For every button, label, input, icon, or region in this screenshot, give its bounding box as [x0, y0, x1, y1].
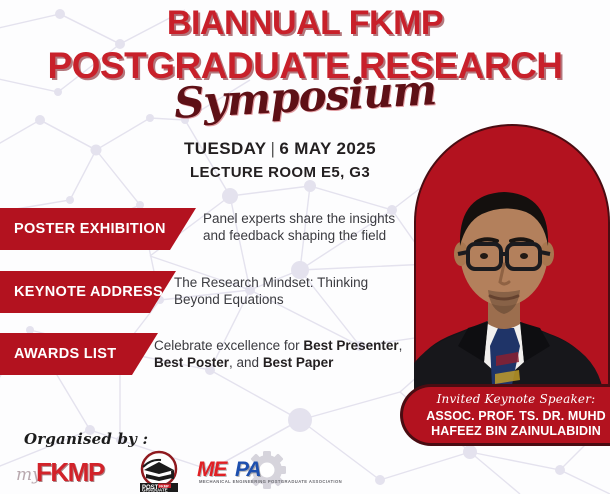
event-date-line: TUESDAY|6 MAY 2025: [130, 138, 430, 161]
desc-awards-bold2: Best Poster: [154, 355, 229, 370]
section-banner-poster-exhibition[interactable]: POSTER EXHIBITION: [0, 208, 196, 250]
organised-by-label: Organised by :: [24, 430, 148, 448]
mepa-logo: ME PA MECHANICAL ENGINEERING POSTGRADUAT…: [191, 450, 294, 494]
date-separator: |: [267, 139, 280, 158]
desc-poster-line2: and feedback shaping the field: [203, 228, 386, 243]
postgraduate-seal-icon: POST FKMP GRADUATE: [131, 450, 187, 494]
mepa-logo-subtitle: MECHANICAL ENGINEERING POSTGRADUATE ASSO…: [199, 479, 342, 484]
title-line-1: BIANNUAL FKMP: [0, 2, 610, 40]
desc-awards-prefix: Celebrate excellence for: [154, 338, 303, 353]
desc-awards-bold3: Best Paper: [263, 355, 334, 370]
section-description-awards-list: Celebrate excellence for Best Presenter,…: [154, 337, 429, 372]
section-description-poster-exhibition: Panel experts share the insights and fee…: [203, 210, 443, 245]
invited-speaker-name-line-1: ASSOC. PROF. TS. DR. MUHD: [425, 409, 607, 424]
event-day: TUESDAY: [184, 139, 266, 158]
event-date: 6 MAY 2025: [279, 139, 376, 158]
symposium-poster: BIANNUAL FKMP POSTGRADUATE RESEARCH Symp…: [0, 0, 610, 494]
desc-keynote-line2: Beyond Equations: [174, 292, 284, 307]
organiser-logo-row: my FKMP POST FKMP GRADUATE: [14, 450, 294, 494]
event-venue: LECTURE ROOM E5, G3: [130, 164, 430, 181]
desc-awards-mid1: ,: [399, 338, 403, 353]
fkmp-logo-text: FKMP: [36, 457, 104, 488]
desc-awards-mid2: , and: [229, 355, 263, 370]
invited-speaker-label: Invited Keynote Speaker:: [425, 393, 607, 406]
postgraduate-logo: POST FKMP GRADUATE: [131, 450, 187, 494]
section-banner-awards-list[interactable]: AWARDS LIST: [0, 333, 158, 375]
desc-poster-line1: Panel experts share the insights: [203, 211, 395, 226]
section-description-keynote-address: The Research Mindset: Thinking Beyond Eq…: [174, 274, 424, 309]
desc-keynote-line1: The Research Mindset: Thinking: [174, 275, 368, 290]
section-banner-keynote-address[interactable]: KEYNOTE ADDRESS: [0, 271, 176, 313]
desc-awards-bold1: Best Presenter: [303, 338, 398, 353]
postgraduate-logo-line2: GRADUATE: [142, 488, 168, 493]
invited-speaker-badge: Invited Keynote Speaker: ASSOC. PROF. TS…: [400, 384, 610, 446]
invited-speaker-name-line-2: HAFEEZ BIN ZAINULABIDIN: [425, 424, 607, 439]
event-date-venue-block: TUESDAY|6 MAY 2025 LECTURE ROOM E5, G3: [130, 138, 430, 181]
fkmp-logo: my FKMP: [14, 451, 131, 493]
